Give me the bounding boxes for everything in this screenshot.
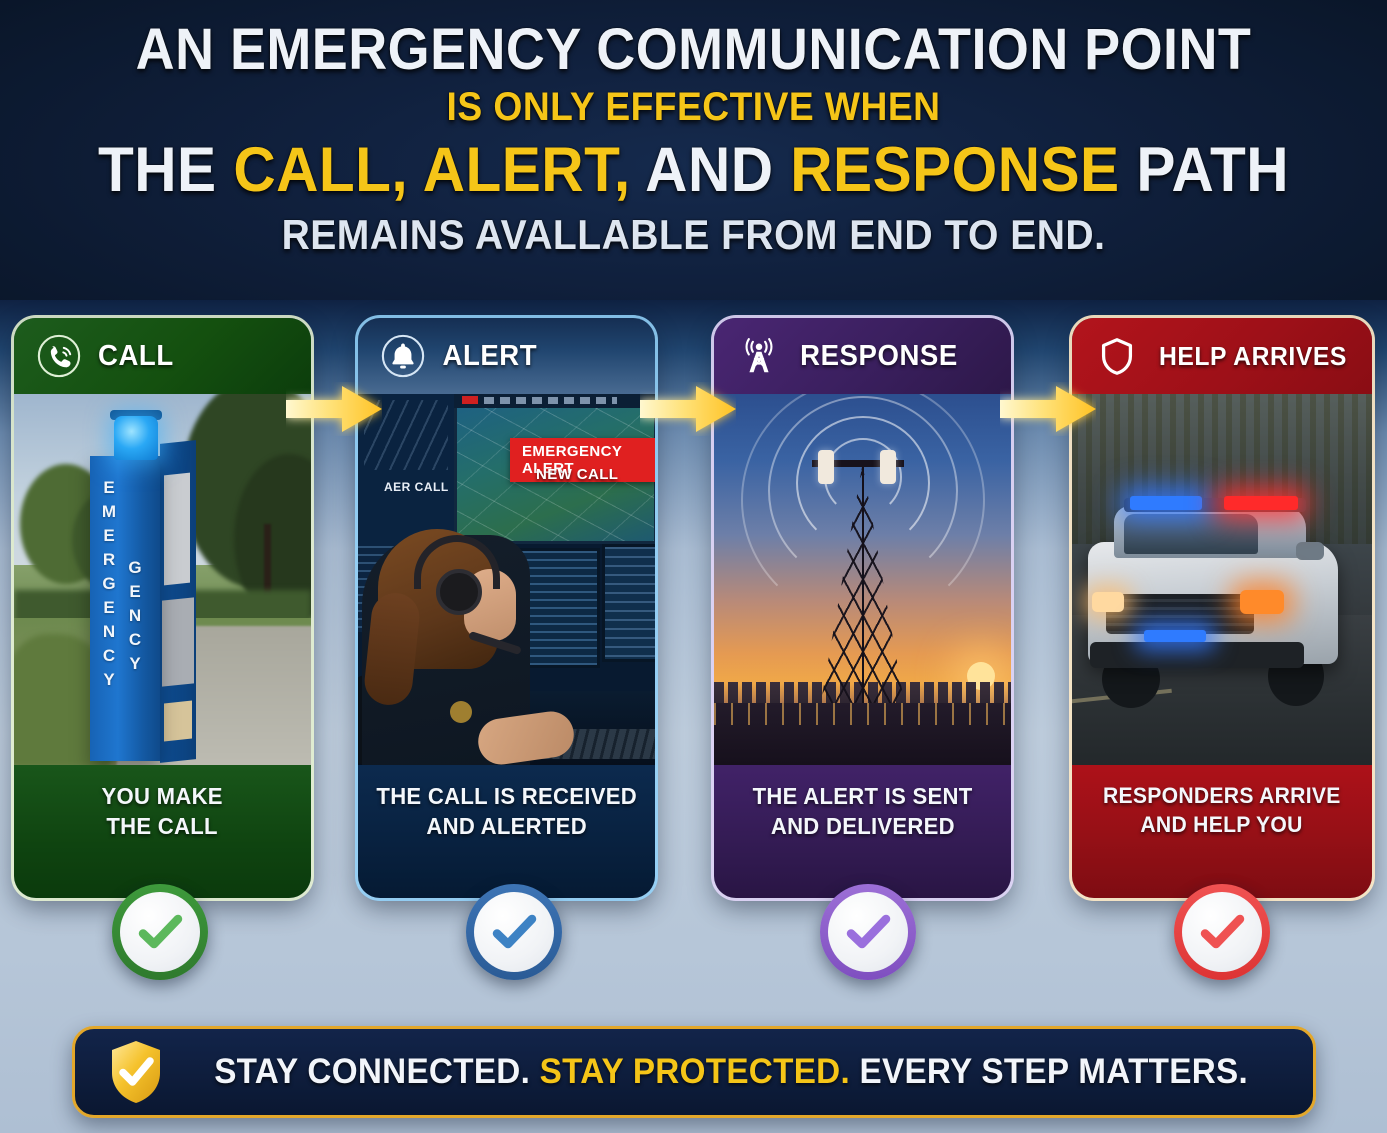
arrow-response-to-help-icon <box>1000 382 1096 436</box>
headline-line-3-part-b: CALL, ALERT, <box>233 135 630 205</box>
arrow-alert-to-response-icon <box>640 382 736 436</box>
headline-line-1: AN EMERGENCY COMMUNICATION POINT <box>49 20 1339 79</box>
new-call-label: NEW CALL <box>536 466 618 483</box>
headline-line-3-part-a: THE <box>98 135 233 205</box>
step-header-label-alert: ALERT <box>442 340 537 373</box>
check-badge-inner <box>828 892 908 972</box>
caption-line-1: THE ALERT IS SENT <box>753 781 973 811</box>
windshield <box>1124 514 1258 554</box>
tower-antenna <box>880 450 896 484</box>
headline-line-3-part-d: RESPONSE <box>790 135 1119 205</box>
check-badge-inner <box>120 892 200 972</box>
grille-blue-light-strip <box>1144 630 1206 642</box>
step-photo-response <box>714 394 1011 765</box>
red-emergency-light <box>1224 496 1298 510</box>
gold-shield-check-icon <box>107 1039 165 1105</box>
step-caption-call: YOU MAKE THE CALL <box>14 765 311 898</box>
call-box-info-plate <box>164 473 190 586</box>
step-check-badge-response <box>820 884 916 980</box>
step-header-label-response: RESPONSE <box>800 340 958 373</box>
caption-line-2: THE CALL <box>107 811 218 841</box>
step-caption-response: THE ALERT IS SENT AND DELIVERED <box>714 765 1011 898</box>
step-card-response[interactable]: RESPONSE <box>714 318 1011 898</box>
checkmark-icon <box>133 905 187 959</box>
police-suv-photo <box>1072 394 1372 765</box>
caption-line-1: THE CALL IS RECEIVED <box>376 781 637 811</box>
step-photo-alert: AER CALL EMERGENCY ALERT NEW CALL <box>358 394 655 765</box>
step-photo-call: EMERGENCY GENCY <box>14 394 311 765</box>
headset-earcup <box>436 569 482 615</box>
headline-band: AN EMERGENCY COMMUNICATION POINT IS ONLY… <box>0 0 1387 300</box>
step-card-call[interactable]: CALL <box>14 318 311 898</box>
step-header-alert: ALERT <box>358 318 655 394</box>
headline-line-3-part-c: AND <box>631 135 791 205</box>
left-headlight <box>1092 592 1124 612</box>
arrow-call-to-alert-icon <box>286 382 382 436</box>
call-box-text-column-1: EMERGENCY <box>98 476 120 692</box>
step-caption-help-arrives: RESPONDERS ARRIVE AND HELP YOU <box>1072 765 1372 898</box>
bottom-banner: STAY CONNECTED. STAY PROTECTED. EVERY ST… <box>72 1026 1316 1118</box>
side-screen-label: AER CALL <box>384 480 449 494</box>
record-indicator <box>462 396 478 404</box>
right-monitor <box>602 544 655 662</box>
checkmark-icon <box>1195 905 1249 959</box>
dispatcher-console-photo: AER CALL EMERGENCY ALERT NEW CALL <box>358 394 655 765</box>
step-card-alert[interactable]: ALERT AER CALL EMERGENCY ALERT <box>358 318 655 898</box>
step-photo-help-arrives <box>1072 394 1372 765</box>
infographic-poster: AN EMERGENCY COMMUNICATION POINT IS ONLY… <box>0 0 1387 1133</box>
call-box-speaker-plate <box>162 597 194 686</box>
check-badge-inner <box>1182 892 1262 972</box>
step-header-label-help-arrives: HELP ARRIVES <box>1159 341 1347 372</box>
radio-tower-icon <box>736 333 782 379</box>
side-mirror <box>1296 542 1324 560</box>
tower-mast <box>862 460 864 716</box>
shield-icon <box>1094 333 1140 379</box>
headline-line-4: REMAINS AVALLABLE FROM END TO END. <box>49 214 1339 257</box>
city-lights <box>714 703 1011 725</box>
blue-strobe-beacon <box>114 416 158 460</box>
banner-text: STAY CONNECTED. STAY PROTECTED. EVERY ST… <box>214 1052 1248 1092</box>
toolbar-items <box>484 397 617 404</box>
step-header-label-call: CALL <box>98 340 174 373</box>
step-check-badge-call <box>112 884 208 980</box>
emergency-call-box-photo: EMERGENCY GENCY <box>14 394 311 765</box>
headline-line-3-part-e: PATH <box>1120 135 1289 205</box>
banner-text-part-b: STAY PROTECTED. <box>540 1052 850 1091</box>
caption-line-2: AND HELP YOU <box>1141 810 1303 839</box>
call-box-lower-plate <box>164 701 192 742</box>
step-caption-alert: THE CALL IS RECEIVED AND ALERTED <box>358 765 655 898</box>
checkmark-icon <box>841 905 895 959</box>
front-grille <box>1106 594 1254 634</box>
headline-line-3: THE CALL, ALERT, AND RESPONSE PATH <box>49 138 1339 202</box>
caption-line-2: AND DELIVERED <box>770 811 954 841</box>
tower-antenna <box>818 450 834 484</box>
cell-tower-photo <box>714 394 1011 765</box>
steps-stage: CALL <box>0 300 1387 1133</box>
step-header-call: CALL <box>14 318 311 394</box>
blue-emergency-light <box>1130 496 1202 510</box>
headline-line-2: IS ONLY EFFECTIVE WHEN <box>49 87 1339 128</box>
right-headlight <box>1240 590 1284 614</box>
caption-line-1: YOU MAKE <box>102 781 223 811</box>
bell-icon <box>380 333 426 379</box>
caption-line-1: RESPONDERS ARRIVE <box>1103 781 1341 810</box>
caption-line-2: AND ALERTED <box>426 811 587 841</box>
step-header-help-arrives: HELP ARRIVES <box>1072 318 1372 394</box>
uniform-badge <box>450 701 472 723</box>
checkmark-icon <box>487 905 541 959</box>
banner-text-part-c: EVERY STEP MATTERS. <box>850 1052 1248 1091</box>
step-header-response: RESPONSE <box>714 318 1011 394</box>
step-check-badge-help-arrives <box>1174 884 1270 980</box>
banner-text-part-a: STAY CONNECTED. <box>214 1052 539 1091</box>
call-box-text-column-2: GENCY <box>124 556 146 676</box>
check-badge-inner <box>474 892 554 972</box>
phone-ring-icon <box>36 333 82 379</box>
step-card-help-arrives[interactable]: HELP ARRIVES <box>1072 318 1372 898</box>
step-check-badge-alert <box>466 884 562 980</box>
front-bumper <box>1090 642 1304 668</box>
monitor-toolbar <box>454 394 655 408</box>
